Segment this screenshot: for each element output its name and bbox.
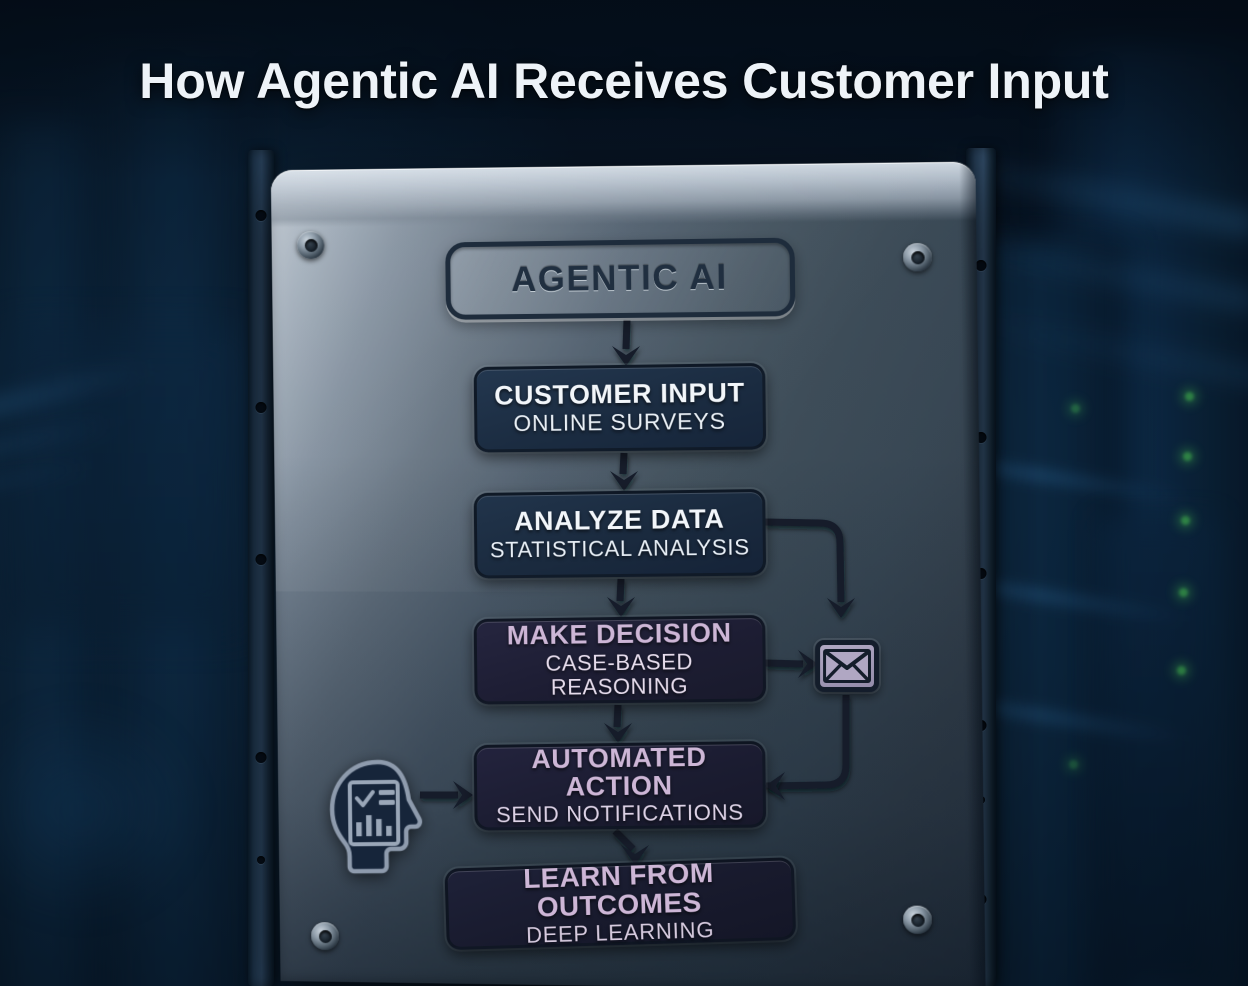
rack-rail-left <box>248 150 274 986</box>
flow-node-subtitle: SEND NOTIFICATIONS <box>496 801 744 828</box>
flow-node-title: ANALYZE DATA <box>514 506 725 536</box>
flow-node-title: AUTOMATED ACTION <box>477 743 763 802</box>
flow-node-title: AGENTIC AI <box>511 260 728 298</box>
rail-hole <box>257 856 265 864</box>
flow-node-automated-action[interactable]: AUTOMATED ACTION SEND NOTIFICATIONS <box>474 741 767 831</box>
flow-node-title: CUSTOMER INPUT <box>494 379 745 410</box>
rail-hole <box>256 752 267 763</box>
flow-node-analyze-data[interactable]: ANALYZE DATA STATISTICAL ANALYSIS <box>474 489 767 579</box>
flow-node-customer-input[interactable]: CUSTOMER INPUT ONLINE SURVEYS <box>474 363 767 453</box>
flow-node-subtitle: ONLINE SURVEYS <box>513 409 726 437</box>
rail-hole <box>256 402 267 413</box>
flow-node-title: LEARN FROM OUTCOMES <box>447 857 792 925</box>
panel-screw-bottom-left <box>311 922 339 950</box>
head-analytics-icon[interactable] <box>326 755 439 874</box>
rail-hole <box>256 210 267 221</box>
rail-hole <box>256 554 267 565</box>
panel-screw-top-left <box>297 231 325 259</box>
flow-node-agentic-ai[interactable]: AGENTIC AI <box>445 238 795 320</box>
flow-node-learn-from-outcomes[interactable]: LEARN FROM OUTCOMES DEEP LEARNING <box>444 857 796 950</box>
panel-screw-top-right <box>903 243 932 272</box>
rail-hole <box>976 260 987 271</box>
flow-node-title: MAKE DECISION <box>507 619 732 650</box>
panel-top-bevel <box>271 162 976 228</box>
mail-icon[interactable] <box>815 640 879 692</box>
page-title: How Agentic AI Receives Customer Input <box>0 52 1248 110</box>
flow-node-make-decision[interactable]: MAKE DECISION CASE-BASED REASONING <box>474 615 767 705</box>
panel-screw-bottom-right <box>903 906 932 935</box>
flow-node-subtitle: STATISTICAL ANALYSIS <box>490 535 750 562</box>
flow-node-subtitle: CASE-BASED REASONING <box>477 649 763 701</box>
